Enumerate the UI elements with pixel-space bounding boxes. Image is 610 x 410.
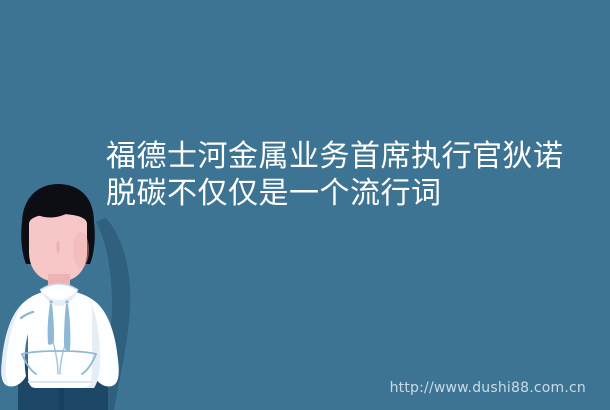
headline: 福德士河金属业务首席执行官狄诺 脱碳不仅仅是一个流行词 <box>106 138 576 212</box>
face <box>29 214 89 282</box>
article-cover-image: 福德士河金属业务首席执行官狄诺 脱碳不仅仅是一个流行词 http://www.d… <box>0 0 610 410</box>
watermark-url: http://www.dushi88.com.cn <box>390 380 586 396</box>
headline-line-1: 福德士河金属业务首席执行官狄诺 <box>106 138 576 175</box>
headline-line-2: 脱碳不仅仅是一个流行词 <box>106 175 576 212</box>
person-illustration-svg <box>0 178 156 410</box>
person-illustration <box>0 178 156 410</box>
hoodie <box>1 284 119 388</box>
